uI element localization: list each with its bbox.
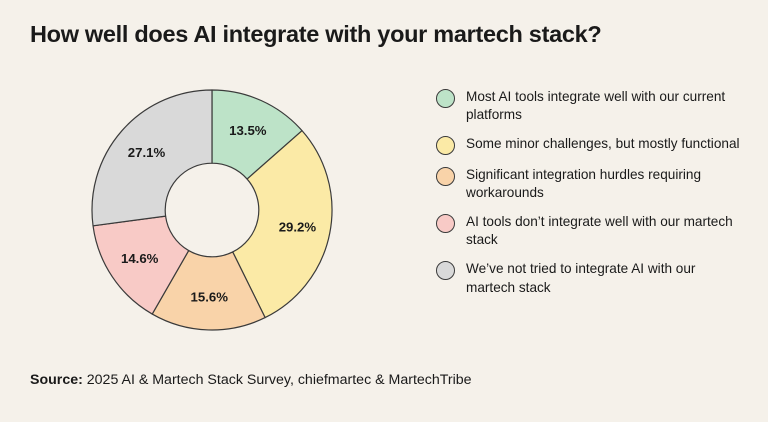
slice-value-label: 29.2%: [279, 219, 317, 234]
slice-value-label: 13.5%: [229, 123, 267, 138]
legend-item[interactable]: Some minor challenges, but mostly functi…: [436, 135, 752, 155]
donut-chart-svg: 13.5%29.2%15.6%14.6%27.1%: [82, 80, 342, 340]
legend-item[interactable]: Most AI tools integrate well with our cu…: [436, 88, 752, 124]
chart-page: How well does AI integrate with your mar…: [0, 0, 768, 422]
legend-swatch-icon: [436, 89, 455, 108]
legend-item[interactable]: AI tools don’t integrate well with our m…: [436, 213, 752, 249]
source-label: Source:: [30, 372, 83, 388]
legend-item-label: We’ve not tried to integrate AI with our…: [466, 260, 744, 296]
donut-chart: 13.5%29.2%15.6%14.6%27.1%: [82, 80, 342, 340]
legend-item[interactable]: Significant integration hurdles requirin…: [436, 166, 752, 202]
source-note: Source: 2025 AI & Martech Stack Survey, …: [30, 372, 472, 388]
slice-value-label: 27.1%: [128, 145, 166, 160]
legend-item[interactable]: We’ve not tried to integrate AI with our…: [436, 260, 752, 296]
page-title: How well does AI integrate with your mar…: [30, 20, 740, 48]
source-text: 2025 AI & Martech Stack Survey, chiefmar…: [83, 372, 472, 388]
legend-item-label: Significant integration hurdles requirin…: [466, 166, 744, 202]
legend-swatch-icon: [436, 214, 455, 233]
legend-swatch-icon: [436, 136, 455, 155]
legend-swatch-icon: [436, 261, 455, 280]
slice-value-label: 15.6%: [191, 290, 229, 305]
legend-item-label: Most AI tools integrate well with our cu…: [466, 88, 744, 124]
legend-item-label: AI tools don’t integrate well with our m…: [466, 213, 744, 249]
chart-legend: Most AI tools integrate well with our cu…: [436, 88, 752, 308]
legend-item-label: Some minor challenges, but mostly functi…: [466, 135, 740, 153]
slice-value-label: 14.6%: [121, 251, 159, 266]
legend-swatch-icon: [436, 167, 455, 186]
